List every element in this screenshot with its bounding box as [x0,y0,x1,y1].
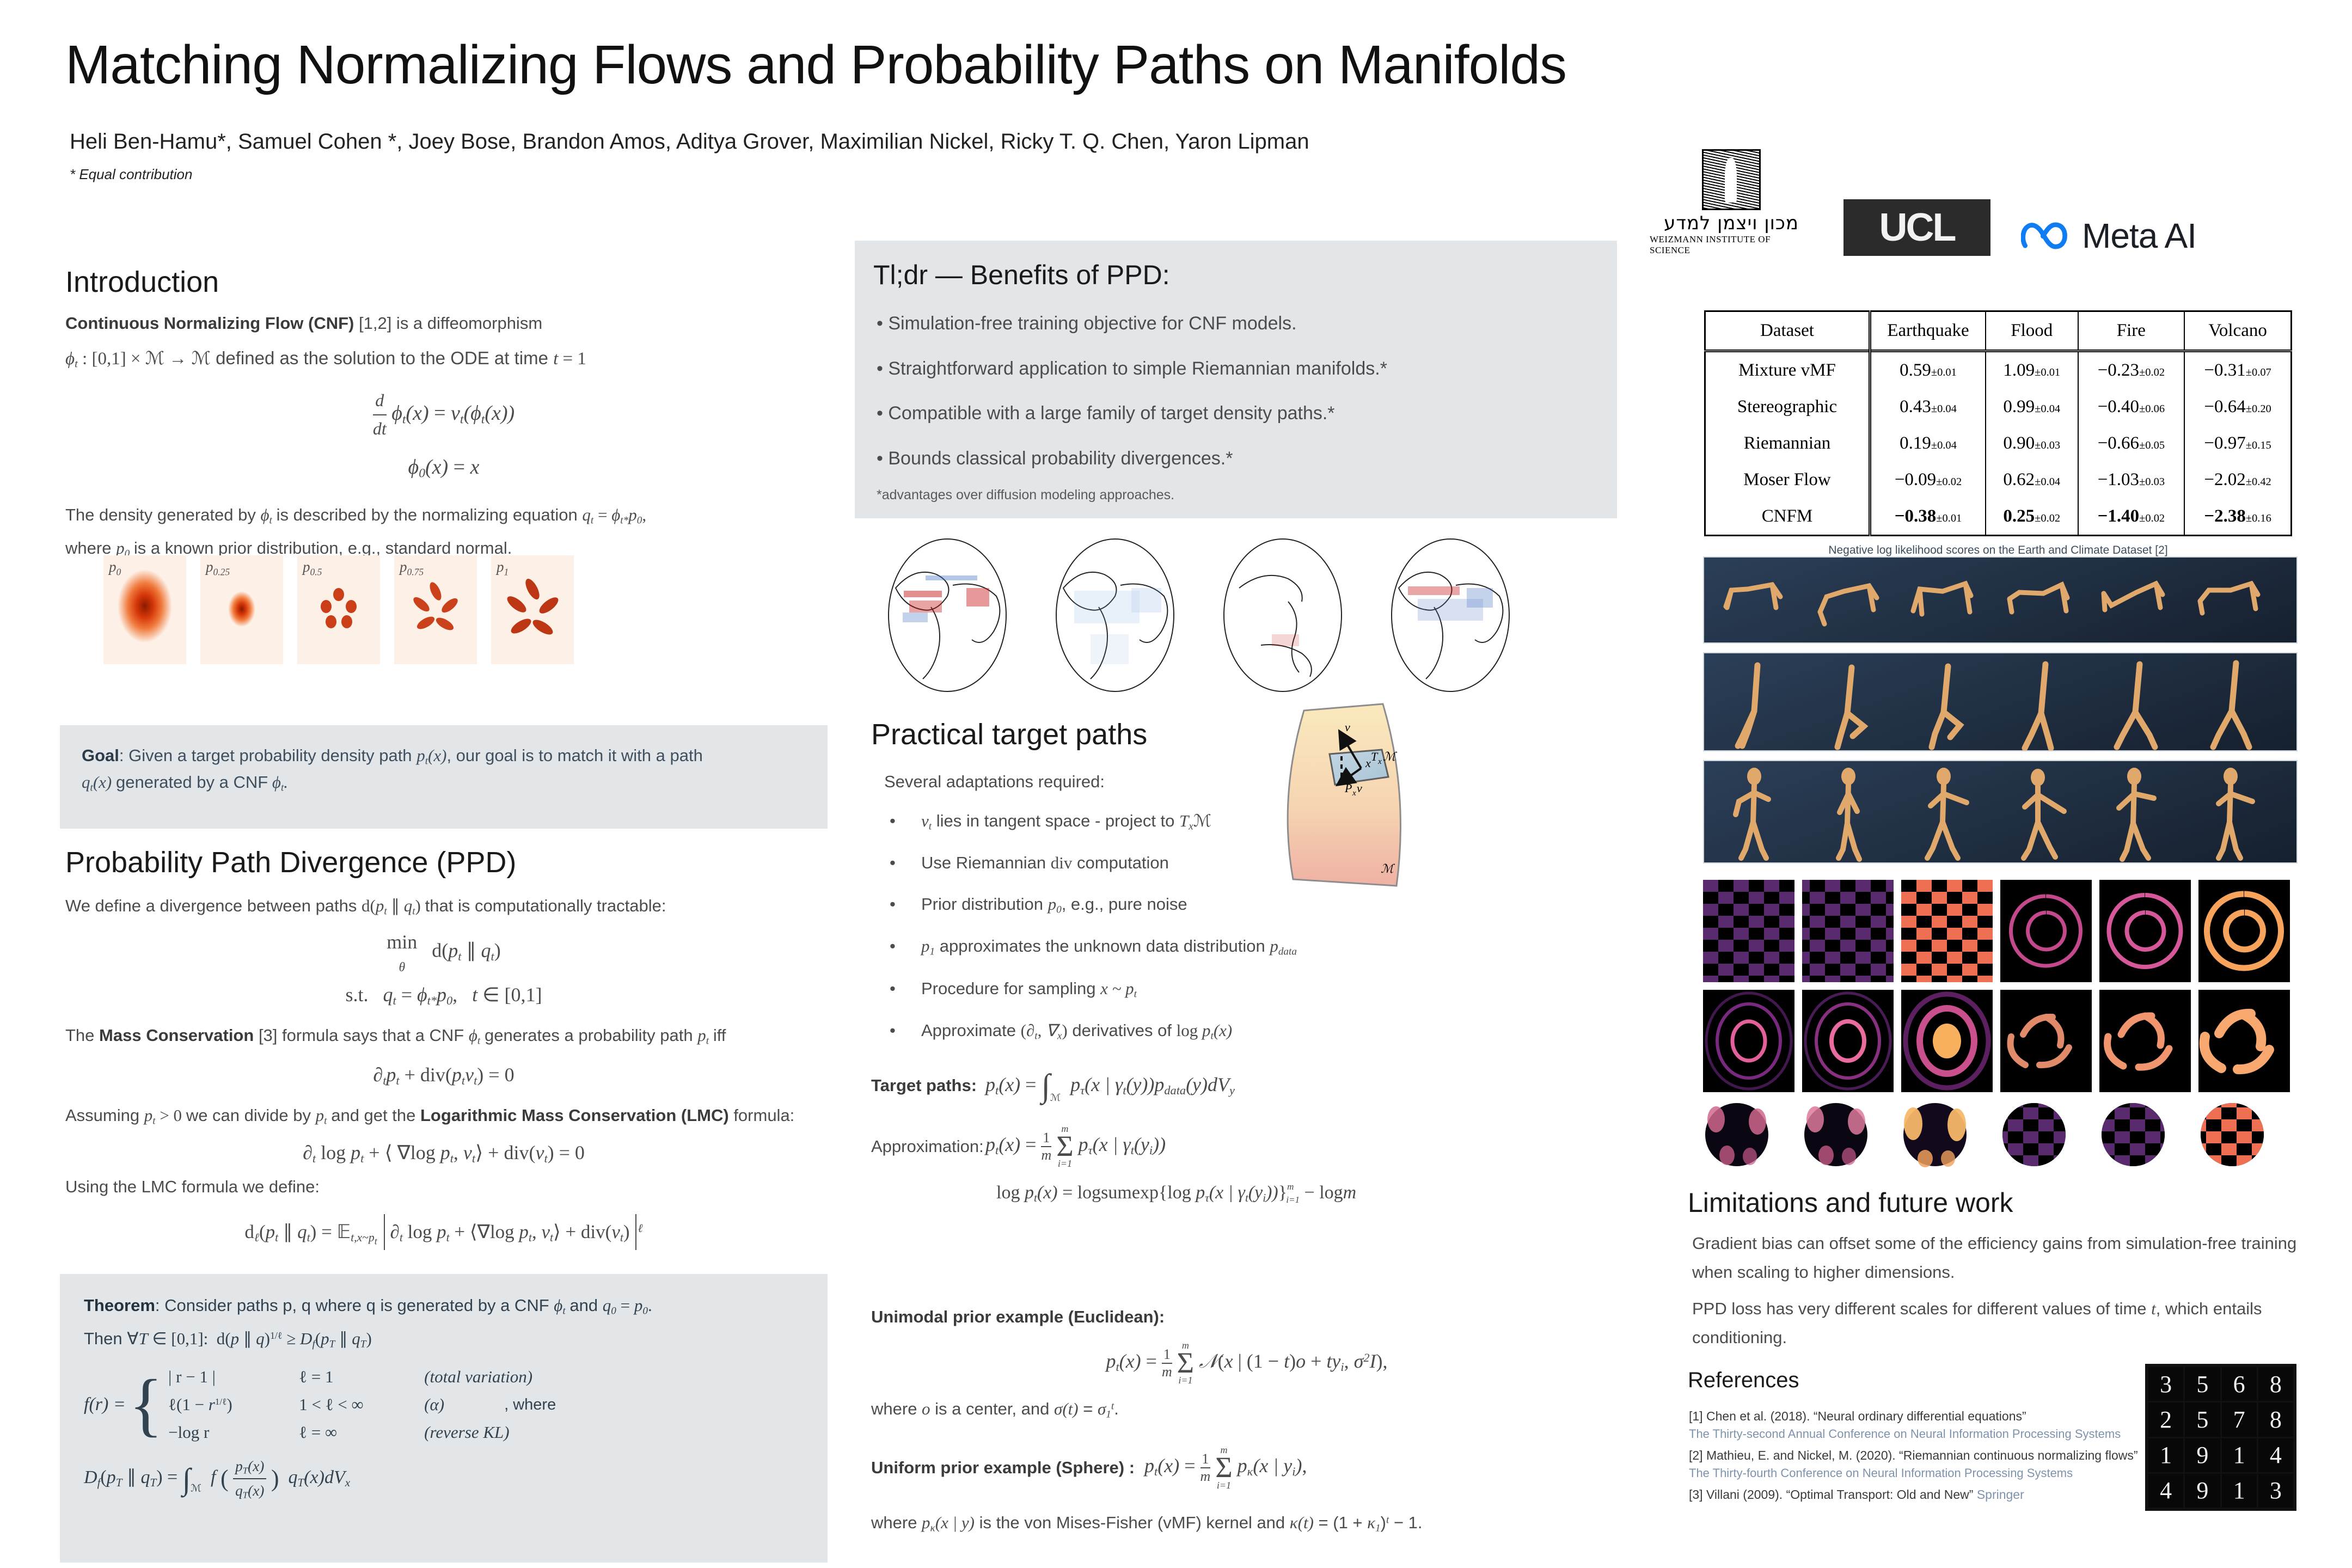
tldr-footnote: *advantages over diffusion modeling appr… [855,483,1617,503]
weizmann-name-text: WEIZMANN INSTITUTE OF SCIENCE [1650,234,1813,256]
theorem-where: , where [504,1393,556,1417]
mass-conservation-term: Mass Conservation [99,1026,254,1045]
density-paragraph: The density generated by ϕt is described… [65,502,822,529]
reference-item: [3] Villani (2009). “Optimal Transport: … [1689,1487,2146,1502]
approximation-label: Approximation: [871,1134,985,1160]
table-row: Mixture vMF0.59±0.011.09±0.01−0.23±0.02−… [1705,351,2292,389]
goal-text-1: : Given a target probability density pat… [119,746,412,765]
mass-text-1: The [65,1026,94,1045]
ppd-intro-line: We define a divergence between paths d(p… [65,893,822,920]
practical-lead: Several adaptations required: [884,769,1331,795]
table-cell-value: −0.66±0.05 [2078,425,2185,462]
reference-item: [2] Mathieu, E. and Nickel, M. (2020). “… [1689,1448,2146,1463]
table-cell-model: Mixture vMF [1705,351,1870,389]
globe-density-panel [1206,536,1359,694]
uniform-prior-row: Uniform prior example (Sphere) : pt(x) =… [871,1444,1622,1491]
tldr-bullet: • Compatible with a large family of targ… [877,399,1598,428]
mass-text-4: iff [713,1026,726,1045]
svg-text:ℳ: ℳ [1383,750,1398,763]
weizmann-logo: מכון ויצמן למדע WEIZMANN INSTITUTE OF SC… [1650,149,1813,256]
density-panel-label: p0.75 [400,559,424,578]
tldr-bullet: • Simulation-free training objective for… [877,309,1598,338]
reference-venue: The Thirty-second Annual Conference on N… [1689,1427,2146,1441]
equation-lmc: ∂t log pt + ⟨ ∇log pt, vt⟩ + div(vt) = 0 [65,1138,822,1168]
reference-item: [1] Chen et al. (2018). “Neural ordinary… [1689,1409,2146,1424]
globe-density-panel [871,536,1024,694]
tldr-box: Tl;dr — Benefits of PPD: • Simulation-fr… [855,241,1617,518]
label-v: v [1345,720,1350,734]
manifold-diagram: v x T x ℳ P x v ℳ [1274,700,1508,890]
mass-text-3: generates a probability path [485,1026,693,1045]
equation-logsumexp: log pt(x) = logsumexp{log pτ(x | γt(yi))… [871,1181,1622,1205]
equal-contribution-note: * Equal contribution [70,166,192,183]
ppd-body: We define a divergence between paths d(p… [65,893,822,1250]
density-panel-label: p0.25 [206,559,230,578]
practical-bullet: • Prior distribution p0, e.g., pure nois… [890,891,1331,918]
reference-item-text: [3] Villani (2009). “Optimal Transport: … [1689,1487,1973,1502]
theorem-label: Theorem [84,1296,155,1315]
ucl-logo: UCL [1843,199,1990,256]
min-subscript: θ [387,958,417,978]
mnist-digit-cell: 3 [2148,1367,2183,1401]
label-x: x [1365,756,1371,770]
table-cell-value: 0.99±0.04 [1986,389,2078,425]
mnist-digit-cell: 2 [2148,1402,2183,1436]
mnist-digit-cell: 4 [2148,1474,2183,1508]
table-cell-value: −2.38±0.16 [2184,498,2291,536]
table-header-row: Dataset Earthquake Flood Fire Volcano [1705,311,2292,351]
practical-body: Several adaptations required: • vt lies … [884,769,1331,1050]
table-cell-value: −0.97±0.15 [2184,425,2291,462]
label-manifold: ℳ [1381,862,1395,875]
case-cond: ℓ = 1 [299,1364,424,1390]
lmc-term: Logarithmic Mass Conservation [420,1106,676,1125]
table-cell-model: Stereographic [1705,389,1870,425]
mocap-strip [1703,760,2298,863]
table-cell-value: −0.31±0.07 [2184,351,2291,389]
table-cell-value: 1.09±0.01 [1986,351,2078,389]
mocap-strip [1703,652,2298,751]
limitations-para-1: Gradient bias can offset some of the eff… [1692,1229,2318,1287]
approximation-row: Approximation: pt(x) = 1m m Σ i=1 pτ(x |… [871,1123,1622,1169]
goal-text: Goal: Given a target probability density… [60,725,828,813]
label-projection: P [1344,781,1352,795]
practical-bullet: • vt lies in tangent space - project to … [890,808,1331,835]
density-text-1: The density generated by [65,505,256,524]
ucl-logo-text: UCL [1879,205,1955,250]
practical-bullet-list: • vt lies in tangent space - project to … [884,808,1331,1044]
density-panel-label: p1 [497,559,509,578]
tldr-bullet: • Straightforward application to simple … [877,354,1598,383]
uniform-heading: Uniform prior example (Sphere) : [871,1455,1135,1481]
table-cell-value: −0.40±0.06 [2078,389,2185,425]
cnf-term-rest: [1,2] is a diffeomorphism [354,314,542,333]
table-col-flood: Flood [1986,311,2078,351]
author-list: Heli Ben-Hamu*, Samuel Cohen *, Joey Bos… [70,130,1309,154]
density-panel: p0.5 [297,555,380,664]
practical-bullet: • Procedure for sampling x ~ pt [890,976,1331,1002]
table-cell-value: 0.59±0.01 [1870,351,1986,389]
theorem-body: Theorem: Consider paths p, q where q is … [60,1274,828,1504]
table-cell-value: −1.40±0.02 [2078,498,2185,536]
references-heading: References [1688,1368,1799,1393]
equation-unimodal-prior: pt(x) = 1m m Σ i=1 𝒩(x | (1 − t)o + tyi,… [871,1340,1622,1386]
case-expr: | r − 1 | [168,1364,299,1390]
mnist-digit-cell: 1 [2222,1474,2257,1508]
svg-text:x: x [1352,789,1356,798]
table-caption: Negative log likelihood scores on the Ea… [1704,544,2292,557]
meta-ai-logo: Meta AI [2021,216,2196,256]
case-name: (total variation) [424,1364,532,1390]
density-grid [1703,880,2298,1171]
table-col-earthquake: Earthquake [1870,311,1986,351]
theorem-cases: f(r) = { | r − 1 | ℓ = 1 (total variatio… [84,1362,804,1447]
equation-f-divergence: Df(pT ∥ qT) = ∫ℳ f ( pT(x) qT(x) ) qT(x)… [84,1455,804,1503]
table-cell-value: 0.25±0.02 [1986,498,2078,536]
density-text-2: is described by the normalizing equation [277,505,578,524]
mnist-digit-cell: 7 [2222,1402,2257,1436]
globe-density-panel [1374,536,1527,694]
table-cell-value: −0.64±0.20 [2184,389,2291,425]
table-cell-value: 0.62±0.04 [1986,462,2078,498]
mocap-strip [1703,556,2298,644]
weizmann-emblem-icon [1702,149,1761,210]
mass-conservation-para: The Mass Conservation [3] formula says t… [65,1022,822,1049]
equation-min-objective: min θ d(pt ∥ qt) [65,927,822,978]
results-table: Dataset Earthquake Flood Fire Volcano Mi… [1704,310,2292,536]
mnist-digit-cell: 9 [2185,1438,2220,1472]
mnist-sample-grid: 3568257819144913 [2145,1364,2296,1511]
table-col-volcano: Volcano [2184,311,2291,351]
page-title: Matching Normalizing Flows and Probabili… [65,34,1566,96]
using-lmc-line: Using the LMC formula we define: [65,1174,822,1200]
density-panel-label: p0 [109,559,121,578]
meta-ai-text: Meta AI [2082,216,2196,256]
svg-text:v: v [1357,781,1362,795]
mnist-digit-cell: 6 [2222,1367,2257,1401]
practical-bullet: • Approximate (∂t, ∇x) derivatives of lo… [890,1018,1331,1044]
practical-bullet: • Use Riemannian div computation [890,850,1331,876]
table-cell-value: 0.19±0.04 [1870,425,1986,462]
mnist-digit-cell: 8 [2258,1367,2293,1401]
min-operator: min [387,927,417,958]
prior-examples-block: Unimodal prior example (Euclidean): pt(x… [871,1304,1622,1536]
density-grid-svg [1703,880,2298,1168]
ppd-intro-2: that is computationally tractable: [425,896,666,915]
density-panel: p1 [491,555,574,664]
table-body: Mixture vMF0.59±0.011.09±0.01−0.23±0.02−… [1705,351,2292,536]
unimodal-heading: Unimodal prior example (Euclidean): [871,1304,1622,1330]
goal-text-2: , our goal is to match it with a path [446,746,702,765]
limitations-heading: Limitations and future work [1688,1187,2013,1218]
theorem-line-1b: and [569,1296,598,1315]
density-panel-label: p0.5 [303,559,322,578]
introduction-body: Continuous Normalizing Flow (CNF) [1,2] … [65,310,822,562]
mnist-digit-cell: 4 [2258,1438,2293,1472]
theorem-case-row: | r − 1 | ℓ = 1 (total variation) [168,1364,556,1390]
equation-constraint: s.t. qt = ϕt*p0, t ∈ [0,1] [65,980,822,1010]
tldr-heading: Tl;dr — Benefits of PPD: [855,241,1617,291]
table-cell-value: −1.03±0.03 [2078,462,2185,498]
mnist-digit-cell: 8 [2258,1402,2293,1436]
lmc-abbrev: (LMC) [681,1106,729,1125]
logo-strip: מכון ויצמן למדע WEIZMANN INSTITUTE OF SC… [1650,158,2196,256]
mnist-digit-cell: 9 [2185,1474,2220,1508]
case-expr: −log r [168,1419,299,1445]
theorem-line-1: : Consider paths p, q where q is generat… [155,1296,549,1315]
table-col-dataset: Dataset [1705,311,1870,351]
table-cell-value: −0.09±0.02 [1870,462,1986,498]
equation-initial-condition: ϕ0(x) = x [65,451,822,483]
lmc-text-4: formula: [733,1106,794,1125]
globe-density-panel [1039,536,1191,694]
goal-label: Goal [82,746,119,765]
table-cell-value: −0.38±0.01 [1870,498,1986,536]
equation-mass-conservation: ∂tpt + div(ptvt) = 0 [65,1060,822,1091]
lmc-para: Assuming pt > 0 we can divide by pt and … [65,1102,822,1129]
table-cell-value: −0.23±0.02 [2078,351,2185,389]
practical-heading: Practical target paths [871,718,1147,751]
theorem-case-row: ℓ(1 − r1/ℓ) 1 < ℓ < ∞ (α) , where [168,1392,556,1418]
table-col-fire: Fire [2078,311,2185,351]
globe-row [871,536,1527,694]
tldr-bullet-list: • Simulation-free training objective for… [855,299,1617,473]
target-paths-row: Target paths: pt(x) = ∫ℳ pτ(x | γt(y))pd… [871,1067,1622,1105]
meta-infinity-icon [2021,219,2073,253]
equation-target-path: pt(x) = ∫ℳ pτ(x | γt(y))pdata(y)dVy [985,1067,1235,1105]
results-table-wrap: Dataset Earthquake Flood Fire Volcano Mi… [1704,310,2292,557]
mnist-digit-cell: 1 [2222,1438,2257,1472]
table-cell-value: −2.02±0.42 [2184,462,2291,498]
table-cell-model: Moser Flow [1705,462,1870,498]
mnist-digit-cell: 3 [2258,1474,2293,1508]
mass-text-2: [3] formula says that a CNF [259,1026,464,1045]
density-panel: p0 [103,555,186,664]
cnf-domain-line: ϕt : [0,1] × ℳ → ℳ defined as the soluti… [65,344,822,373]
table-row: Stereographic0.43±0.040.99±0.04−0.40±0.0… [1705,389,2292,425]
case-cond: 1 < ℓ < ∞ [299,1392,424,1418]
label-tangent-space: T [1371,750,1379,763]
uniform-where-line: where pκ(x | y) is the von Mises-Fisher … [871,1510,1622,1536]
equation-uniform-prior: pt(x) = 1m m Σ i=1 pκ(x | yi), [1144,1444,1307,1491]
table-cell-model: Riemannian [1705,425,1870,462]
unimodal-where-line: where o is a center, and σ(t) = σ1t. [871,1396,1622,1423]
cnf-term: Continuous Normalizing Flow (CNF) [65,314,354,333]
mocap-strip-group [1703,556,2298,863]
lmc-text-2: we can divide by [186,1106,311,1125]
tldr-bullet-text: Simulation-free training objective for C… [888,313,1296,334]
limitations-para-2: PPD loss has very different scales for d… [1692,1295,2318,1352]
svg-text:x: x [1377,757,1382,766]
introduction-heading: Introduction [65,265,219,299]
references-list: [1] Chen et al. (2018). “Neural ordinary… [1689,1402,2146,1502]
lmc-text-3: and get the [331,1106,415,1125]
practical-bullet: • p1 approximates the unknown data distr… [890,933,1331,960]
table-row: Riemannian0.19±0.040.90±0.03−0.66±0.05−0… [1705,425,2292,462]
density-panel: p0.75 [394,555,477,664]
mnist-digit-cell: 1 [2148,1438,2183,1472]
density-path-row: p0 p0.25 p0.5 [103,555,574,664]
target-paths-label: Target paths: [871,1073,985,1099]
ppd-heading: Probability Path Divergence (PPD) [65,846,516,879]
equation-ode: d dt ϕt(x) = vt(ϕt(x)) [65,387,822,442]
goal-box: Goal: Given a target probability density… [60,725,828,829]
lmc-text-1: Assuming [65,1106,139,1125]
weizmann-hebrew-text: מכון ויצמן למדע [1664,212,1799,234]
mnist-digit-cell: 5 [2185,1402,2220,1436]
theorem-forall-text: Then [84,1329,122,1348]
st-label: s.t. [345,984,368,1006]
equation-approximation: pt(x) = 1m m Σ i=1 pτ(x | γt(yi)) [985,1123,1166,1169]
case-name: (reverse KL) [424,1419,509,1445]
goal-text-3: generated by a CNF [116,773,268,792]
table-row: Moser Flow−0.09±0.020.62±0.04−1.03±0.03−… [1705,462,2292,498]
table-cell-value: 0.43±0.04 [1870,389,1986,425]
tldr-bullet-text: Bounds classical probability divergences… [888,448,1233,469]
mnist-digit-cell: 5 [2185,1367,2220,1401]
tldr-bullet-text: Compatible with a large family of target… [888,403,1334,424]
reference-venue: Springer [1977,1487,2024,1502]
tldr-bullet: • Bounds classical probability divergenc… [877,444,1598,473]
density-text-3: where [65,538,111,558]
target-paths-block: Target paths: pt(x) = ∫ℳ pτ(x | γt(y))pd… [871,1067,1622,1205]
poster-root: Matching Normalizing Flows and Probabili… [0,0,2352,1568]
table-row: CNFM−0.38±0.010.25±0.02−1.40±0.02−2.38±0… [1705,498,2292,536]
theorem-bound-line: Then ∀T ∈ [0,1]: d(p ∥ q)1/ℓ ≥ Df(pT ∥ q… [84,1326,804,1352]
theorem-box: Theorem: Consider paths p, q where q is … [60,1274,828,1563]
case-name: (α) [424,1392,444,1418]
density-panel: p0.25 [200,555,283,664]
theorem-statement-line: Theorem: Consider paths p, q where q is … [84,1293,804,1319]
table-cell-model: CNFM [1705,498,1870,536]
density-text-4: is a known prior distribution, e.g., sta… [134,538,512,558]
reference-venue: The Thirty-fourth Conference on Neural I… [1689,1466,2146,1480]
table-cell-value: 0.90±0.03 [1986,425,2078,462]
tldr-bullet-text: Straightforward application to simple Ri… [888,358,1387,379]
case-cond: ℓ = ∞ [299,1419,424,1445]
theorem-case-row: −log r ℓ = ∞ (reverse KL) [168,1419,556,1445]
equation-ppd-definition: dℓ(pt ∥ qt) = 𝔼t,x~pt ∂t log pt + ⟨∇log … [65,1214,822,1251]
ppd-intro-1: We define a divergence between paths [65,896,357,915]
domain-text: defined as the solution to the ODE at ti… [216,348,548,368]
